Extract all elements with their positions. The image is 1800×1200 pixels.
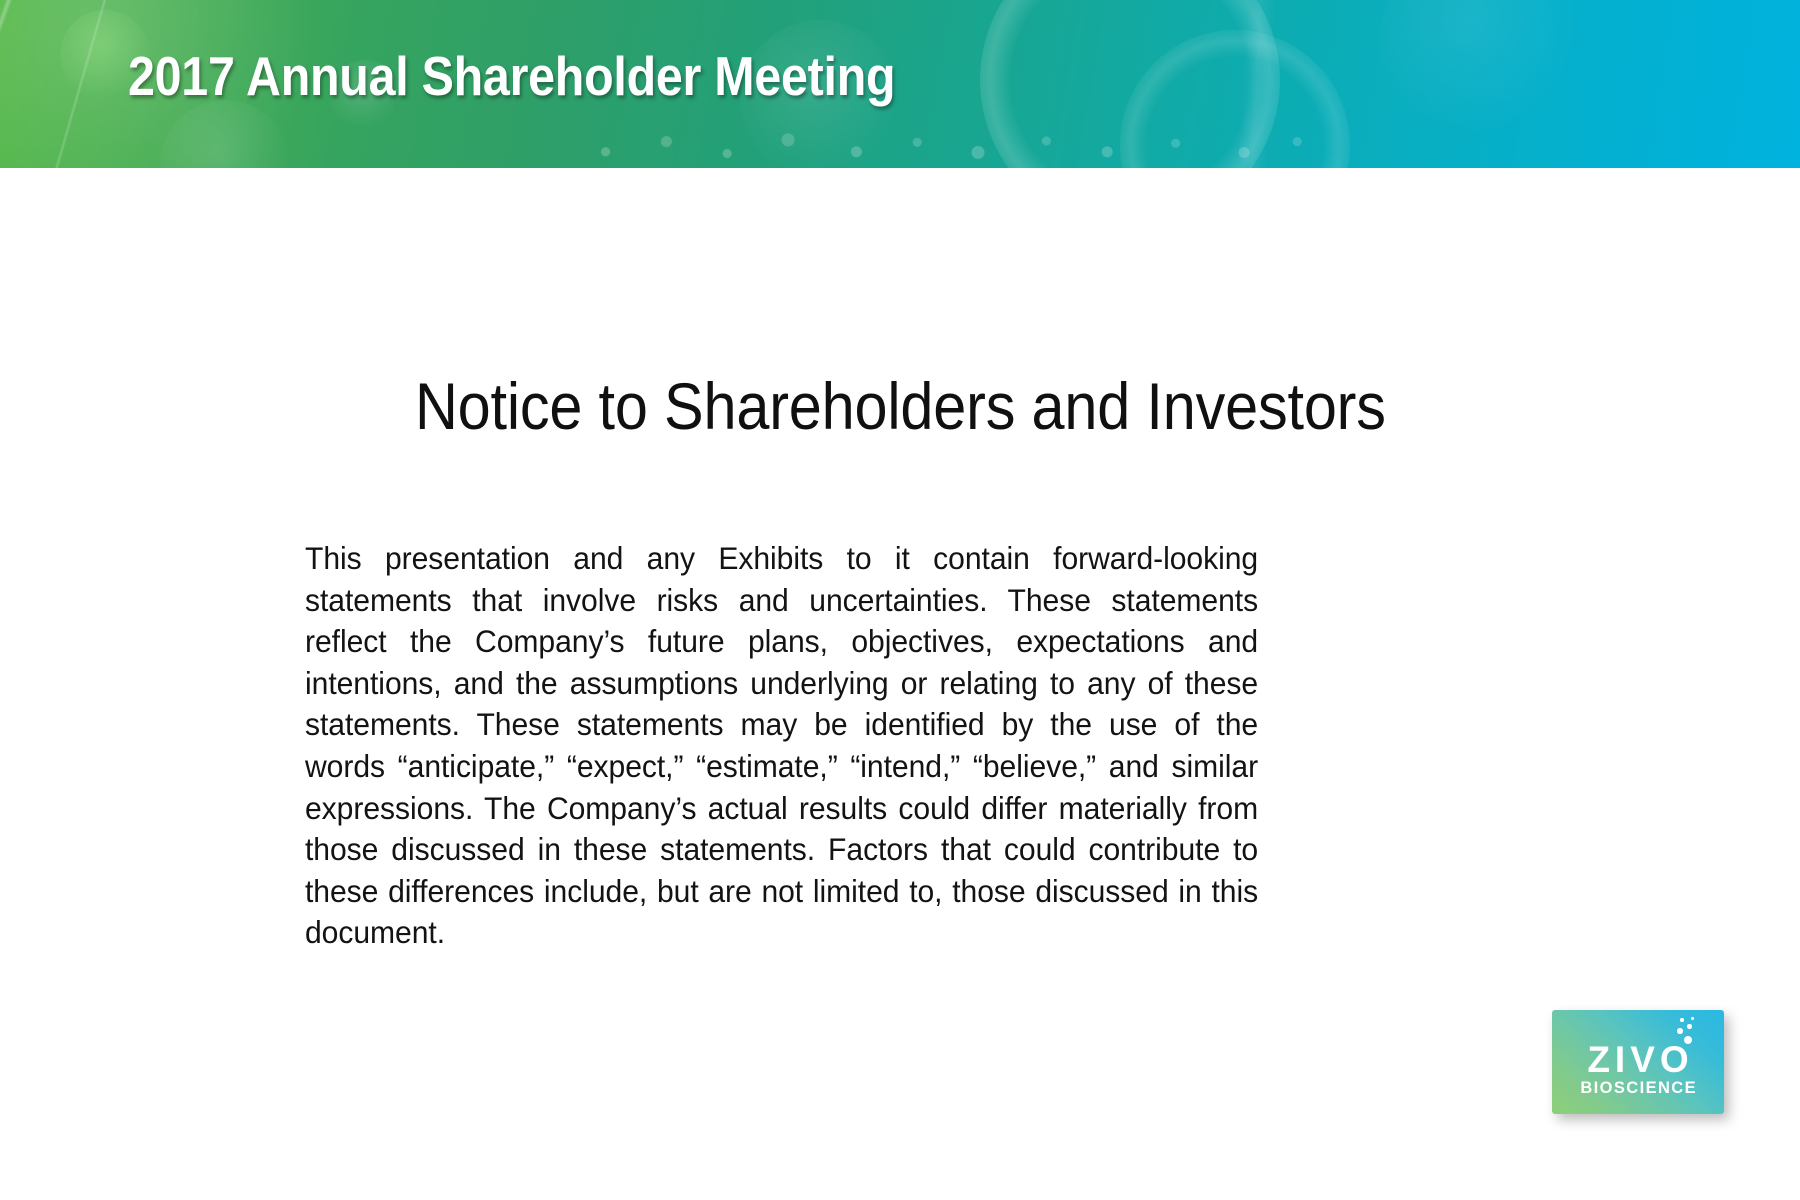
logo-bubble-icon	[1691, 1017, 1694, 1020]
presentation-slide: 2017 Annual Shareholder Meeting Notice t…	[0, 0, 1800, 1200]
header-light-streak-icon	[0, 0, 27, 168]
header-bokeh-blob-icon	[1380, 0, 1580, 140]
page-title: Notice to Shareholders and Investors	[0, 372, 1800, 441]
header-light-streak-icon	[1232, 0, 1280, 168]
header-foam-texture-icon	[560, 128, 1320, 162]
header-light-streak-icon	[29, 0, 124, 168]
forward-looking-statement-paragraph: This presentation and any Exhibits to it…	[305, 538, 1258, 954]
logo-bubble-icon	[1677, 1028, 1683, 1034]
body-text-block: This presentation and any Exhibits to it…	[305, 538, 1303, 954]
logo-subtitle: BIOSCIENCE	[1552, 1080, 1724, 1097]
header-banner: 2017 Annual Shareholder Meeting	[0, 0, 1800, 168]
zivo-bioscience-logo: ZIVO BIOSCIENCE	[1552, 1010, 1724, 1114]
header-bubble-ring-icon	[1120, 30, 1350, 168]
header-title: 2017 Annual Shareholder Meeting	[128, 44, 895, 108]
logo-bubble-icon	[1680, 1018, 1684, 1022]
header-bokeh-blob-icon	[160, 100, 290, 168]
logo-inner: ZIVO BIOSCIENCE	[1552, 1010, 1724, 1114]
page-title-text: Notice to Shareholders and Investors	[415, 372, 1386, 441]
header-bubble-ring-icon	[980, 0, 1280, 168]
logo-wordmark: ZIVO	[1552, 1041, 1724, 1078]
logo-bubble-icon	[1687, 1024, 1692, 1029]
